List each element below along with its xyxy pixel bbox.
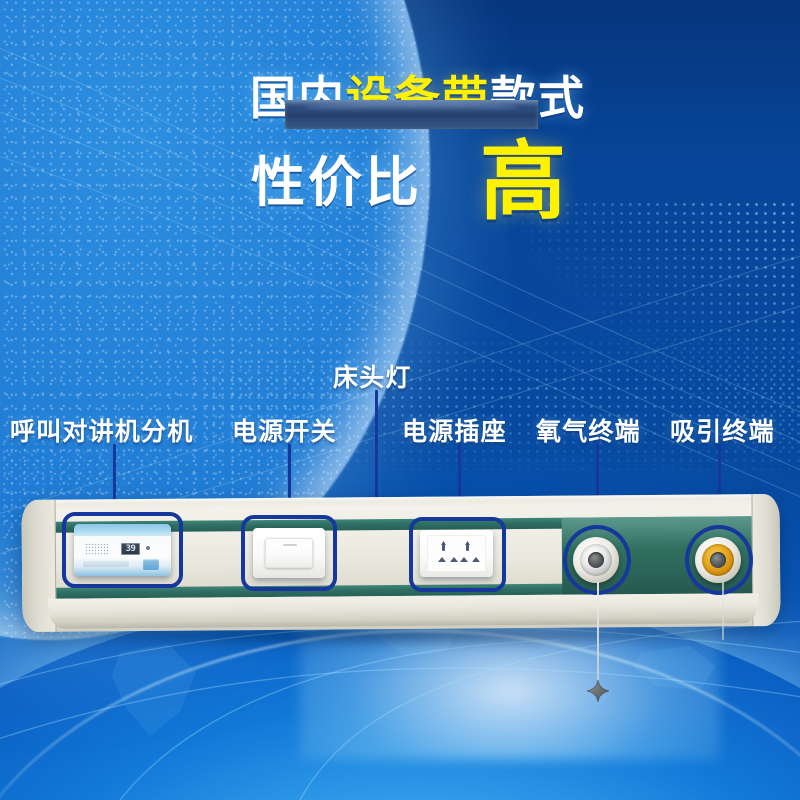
device-bottom-rail bbox=[48, 593, 758, 629]
oxygen-pull-cord[interactable] bbox=[597, 582, 599, 686]
suction-terminal-outlet[interactable] bbox=[695, 537, 741, 583]
call-button-icon[interactable] bbox=[143, 559, 159, 570]
callout-label-socket: 电源插座 bbox=[402, 412, 507, 448]
speaker-grille-icon bbox=[85, 543, 109, 556]
suction-pull-cord[interactable] bbox=[722, 582, 724, 640]
callout-label-intercom: 呼叫对讲机分机 bbox=[10, 412, 193, 448]
switch-rocker-button[interactable] bbox=[265, 538, 313, 568]
status-dot-icon bbox=[146, 546, 150, 550]
nurse-call-intercom-unit[interactable]: 39 bbox=[74, 524, 171, 576]
socket-face-plate bbox=[427, 535, 486, 572]
socket-pin-holes-icon bbox=[428, 536, 487, 573]
oxygen-port-core bbox=[588, 552, 604, 568]
product-poster: 国内设备带款式 性价比高 呼叫对讲机分机 电源开关 床头灯 电源插座 氧气终端 … bbox=[0, 0, 800, 800]
callout-label-bedlight: 床头灯 bbox=[333, 358, 412, 394]
intercom-top-bar bbox=[74, 524, 171, 536]
power-socket-outlet[interactable] bbox=[420, 530, 493, 577]
four-point-star-handle-icon[interactable] bbox=[587, 680, 609, 702]
headline-value-emphasis: 高 bbox=[480, 139, 569, 225]
callout-label-switch: 电源开关 bbox=[232, 412, 337, 448]
bed-light-lens[interactable] bbox=[285, 100, 538, 129]
intercom-display: 39 bbox=[121, 543, 140, 555]
device-drop-shadow bbox=[60, 632, 750, 648]
suction-port-core bbox=[710, 552, 726, 568]
intercom-speaker-slot bbox=[83, 561, 129, 567]
headline-block: 国内设备带款式 性价比高 bbox=[0, 74, 800, 225]
oxygen-terminal-outlet[interactable] bbox=[573, 537, 619, 583]
power-light-switch[interactable] bbox=[253, 528, 325, 578]
callout-label-suction: 吸引终端 bbox=[670, 412, 775, 448]
callout-label-oxygen: 氧气终端 bbox=[536, 412, 641, 448]
headline-line-2: 性价比高 bbox=[0, 139, 800, 225]
headline-value-text: 性价比 bbox=[251, 153, 422, 213]
